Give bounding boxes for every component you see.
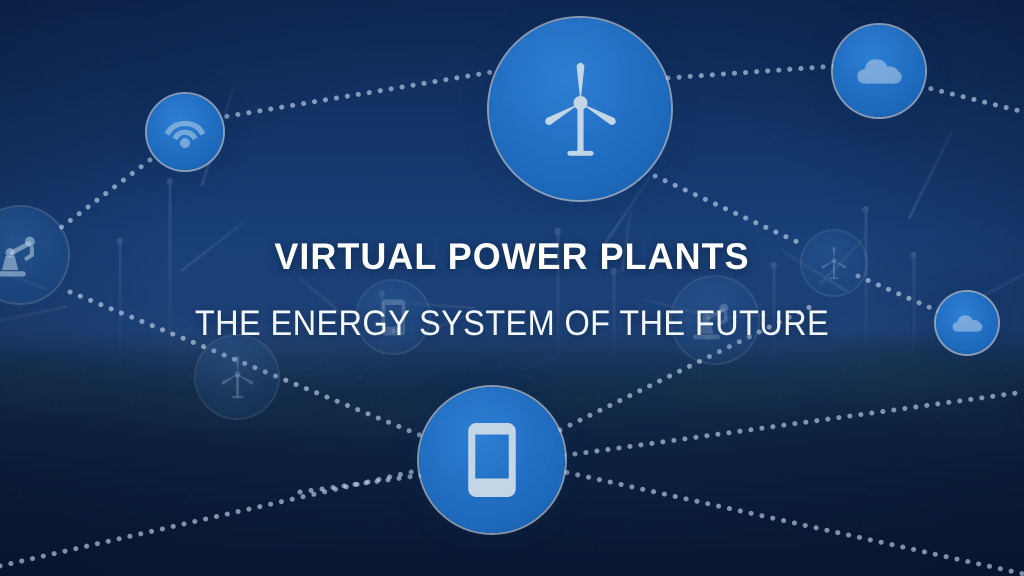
wind-turbine-icon — [489, 18, 671, 200]
title-block: VIRTUAL POWER PLANTS THE ENERGY SYSTEM O… — [0, 236, 1024, 344]
page-subtitle: THE ENERGY SYSTEM OF THE FUTURE — [36, 304, 988, 344]
page-title: VIRTUAL POWER PLANTS — [15, 236, 1008, 278]
wind-turbine-icon-ghost — [196, 336, 278, 418]
cloud-icon — [833, 25, 925, 117]
smartphone-icon — [419, 387, 565, 533]
wifi-icon — [147, 94, 223, 170]
slide-canvas: VIRTUAL POWER PLANTS THE ENERGY SYSTEM O… — [0, 0, 1024, 576]
